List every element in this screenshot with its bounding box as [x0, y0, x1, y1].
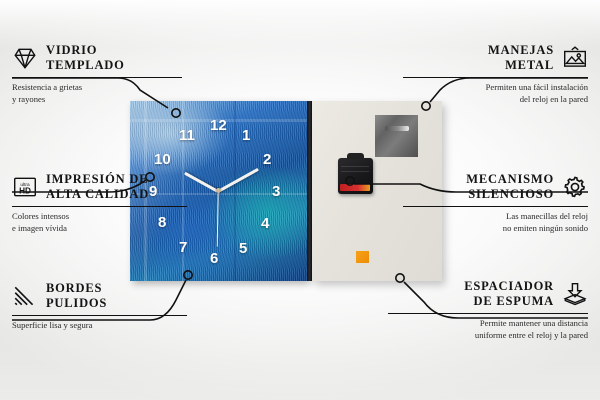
clock-mechanism	[338, 158, 373, 194]
callout-title-line1: IMPRESIÓN DE	[46, 172, 149, 187]
pattern-line	[234, 101, 236, 281]
foam-spacer	[356, 251, 369, 263]
callout-manejas-metal: MANEJAS METAL Permiten una fácil instala…	[403, 43, 588, 105]
foam-spacer-icon	[562, 281, 588, 307]
pattern-line	[130, 119, 307, 122]
callout-rule	[403, 206, 588, 208]
callout-desc-line2: e imagen vívida	[12, 223, 187, 235]
callout-title-line1: VIDRIO	[46, 43, 125, 58]
callout-title-line2: METAL	[488, 58, 554, 73]
callout-desc-line1: Colores intensos	[12, 211, 187, 223]
callout-desc-line1: Permite mantener una distancia	[388, 318, 588, 330]
clock-numeral-7: 7	[179, 240, 187, 255]
callout-mecanismo-silencioso: MECANISMO SILENCIOSO Las manecillas del …	[403, 172, 588, 234]
clock-minute-hand	[217, 168, 259, 193]
callout-title-line2: DE ESPUMA	[464, 294, 554, 309]
svg-text:HD: HD	[19, 187, 31, 196]
callout-header: VIDRIO TEMPLADO	[12, 43, 182, 74]
ultra-hd-icon: ultra HD	[12, 174, 38, 200]
clock-numeral-11: 11	[179, 128, 195, 143]
callout-desc-line1: Resistencia a grietas	[12, 82, 182, 94]
callout-title-line2: ALTA CALIDAD	[46, 187, 149, 202]
callout-vidrio-templado: VIDRIO TEMPLADO Resistencia a grietas y …	[12, 43, 182, 105]
callout-desc-line2: uniforme entre el reloj y la pared	[388, 330, 588, 342]
mechanism-detail	[341, 166, 369, 167]
clock-numeral-1: 1	[242, 128, 250, 143]
callout-title-line2: TEMPLADO	[46, 58, 125, 73]
callout-title-line1: BORDES	[46, 281, 107, 296]
clock-numeral-12: 12	[210, 118, 227, 133]
callout-title-line1: MANEJAS	[488, 43, 554, 58]
picture-frame-icon	[562, 45, 588, 71]
callout-desc-line1: Superficie lisa y segura	[12, 320, 187, 332]
callout-title-line2: PULIDOS	[46, 296, 107, 311]
callout-desc-line2: no emiten ningún sonido	[403, 223, 588, 235]
callout-bordes-pulidos: BORDES PULIDOS Superficie lisa y segura	[12, 281, 187, 332]
clock-second-hand	[216, 191, 218, 247]
callout-title-line2: SILENCIOSO	[466, 187, 554, 202]
clock-center-pin	[216, 188, 221, 193]
callout-rule	[12, 206, 187, 208]
callout-rule	[403, 77, 588, 79]
clock-numeral-2: 2	[263, 152, 271, 167]
clock-hour-hand	[184, 172, 219, 193]
callout-header: MANEJAS METAL	[403, 43, 588, 74]
callout-espaciador-espuma: ESPACIADOR DE ESPUMA Permite mantener un…	[388, 279, 588, 341]
polished-edges-icon	[12, 283, 38, 309]
callout-rule	[12, 77, 182, 79]
callout-header: BORDES PULIDOS	[12, 281, 187, 312]
callout-desc-line1: Las manecillas del reloj	[403, 211, 588, 223]
clock-numeral-4: 4	[261, 216, 269, 231]
callout-header: ultra HD IMPRESIÓN DE ALTA CALIDAD	[12, 172, 187, 203]
metal-hanger	[375, 115, 418, 157]
callout-desc-line2: y rayones	[12, 94, 182, 106]
callout-desc-line1: Permiten una fácil instalación	[403, 82, 588, 94]
callout-header: MECANISMO SILENCIOSO	[403, 172, 588, 203]
clock-numeral-10: 10	[154, 152, 171, 167]
callout-impresion-alta-calidad: ultra HD IMPRESIÓN DE ALTA CALIDAD Color…	[12, 172, 187, 234]
callout-rule	[388, 313, 588, 315]
callout-title-line1: ESPACIADOR	[464, 279, 554, 294]
callout-title-line1: MECANISMO	[466, 172, 554, 187]
callout-header: ESPACIADOR DE ESPUMA	[388, 279, 588, 310]
infographic-canvas: 12 1 2 3 4 5 6 7 8 9 10 11	[0, 0, 600, 400]
clock-numeral-5: 5	[239, 241, 247, 256]
battery	[340, 184, 370, 191]
hanger-slot	[385, 126, 409, 131]
clock-numeral-3: 3	[272, 184, 280, 199]
mechanism-detail	[341, 171, 369, 172]
callout-rule	[12, 315, 187, 317]
clock-numeral-6: 6	[210, 251, 218, 266]
diamond-icon	[12, 45, 38, 71]
callout-desc-line2: del reloj en la pared	[403, 94, 588, 106]
mechanism-hook	[347, 153, 364, 159]
gear-icon	[562, 174, 588, 200]
